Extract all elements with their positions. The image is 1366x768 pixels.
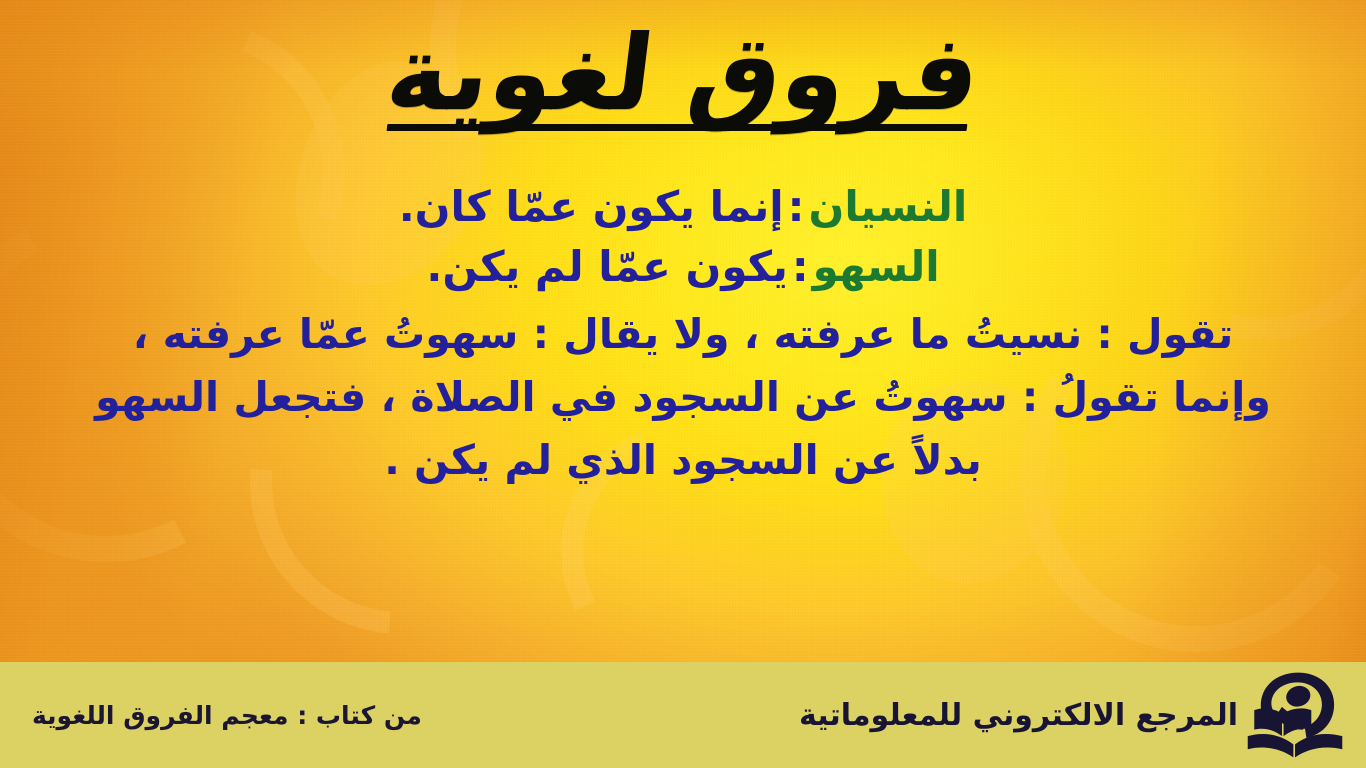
source-citation: من كتاب : معجم الفروق اللغوية [22, 701, 422, 730]
term-label-nisyan: النسيان [808, 182, 967, 231]
poster-content: فروق لغوية النسيان:إنما يكون عمّا كان. ا… [0, 0, 1366, 662]
footer-bar: المرجع الالكتروني للمعلوماتية من كتاب : … [0, 662, 1366, 768]
term-label-sahw: السهو [813, 242, 940, 291]
brand-name: المرجع الالكتروني للمعلوماتية [799, 698, 1238, 733]
person-reading-book-icon [1246, 671, 1344, 759]
page-title: فروق لغوية [0, 12, 1366, 145]
separator-colon: : [788, 242, 813, 291]
definitions-body: النسيان:إنما يكون عمّا كان. السهو:يكون ع… [0, 186, 1366, 481]
definition-line-sahw: السهو:يكون عمّا لم يكن. [34, 246, 1332, 288]
usage-line-3: بدلاً عن السجود الذي لم يكن . [34, 440, 1332, 481]
poster-canvas: فروق لغوية النسيان:إنما يكون عمّا كان. ا… [0, 0, 1366, 768]
separator-colon: : [784, 182, 809, 231]
brand-block: المرجع الالكتروني للمعلوماتية [799, 671, 1344, 759]
definition-text-sahw: يكون عمّا لم يكن. [426, 242, 788, 291]
usage-line-1: تقول : نسيتُ ما عرفته ، ولا يقال : سهوتُ… [34, 314, 1332, 355]
page-title-text: فروق لغوية [373, 12, 993, 145]
definition-text-nisyan: إنما يكون عمّا كان. [399, 182, 784, 231]
definition-line-nisyan: النسيان:إنما يكون عمّا كان. [34, 186, 1332, 228]
usage-line-2: وإنما تقولُ : سهوتُ عن السجود في الصلاة … [34, 377, 1332, 418]
